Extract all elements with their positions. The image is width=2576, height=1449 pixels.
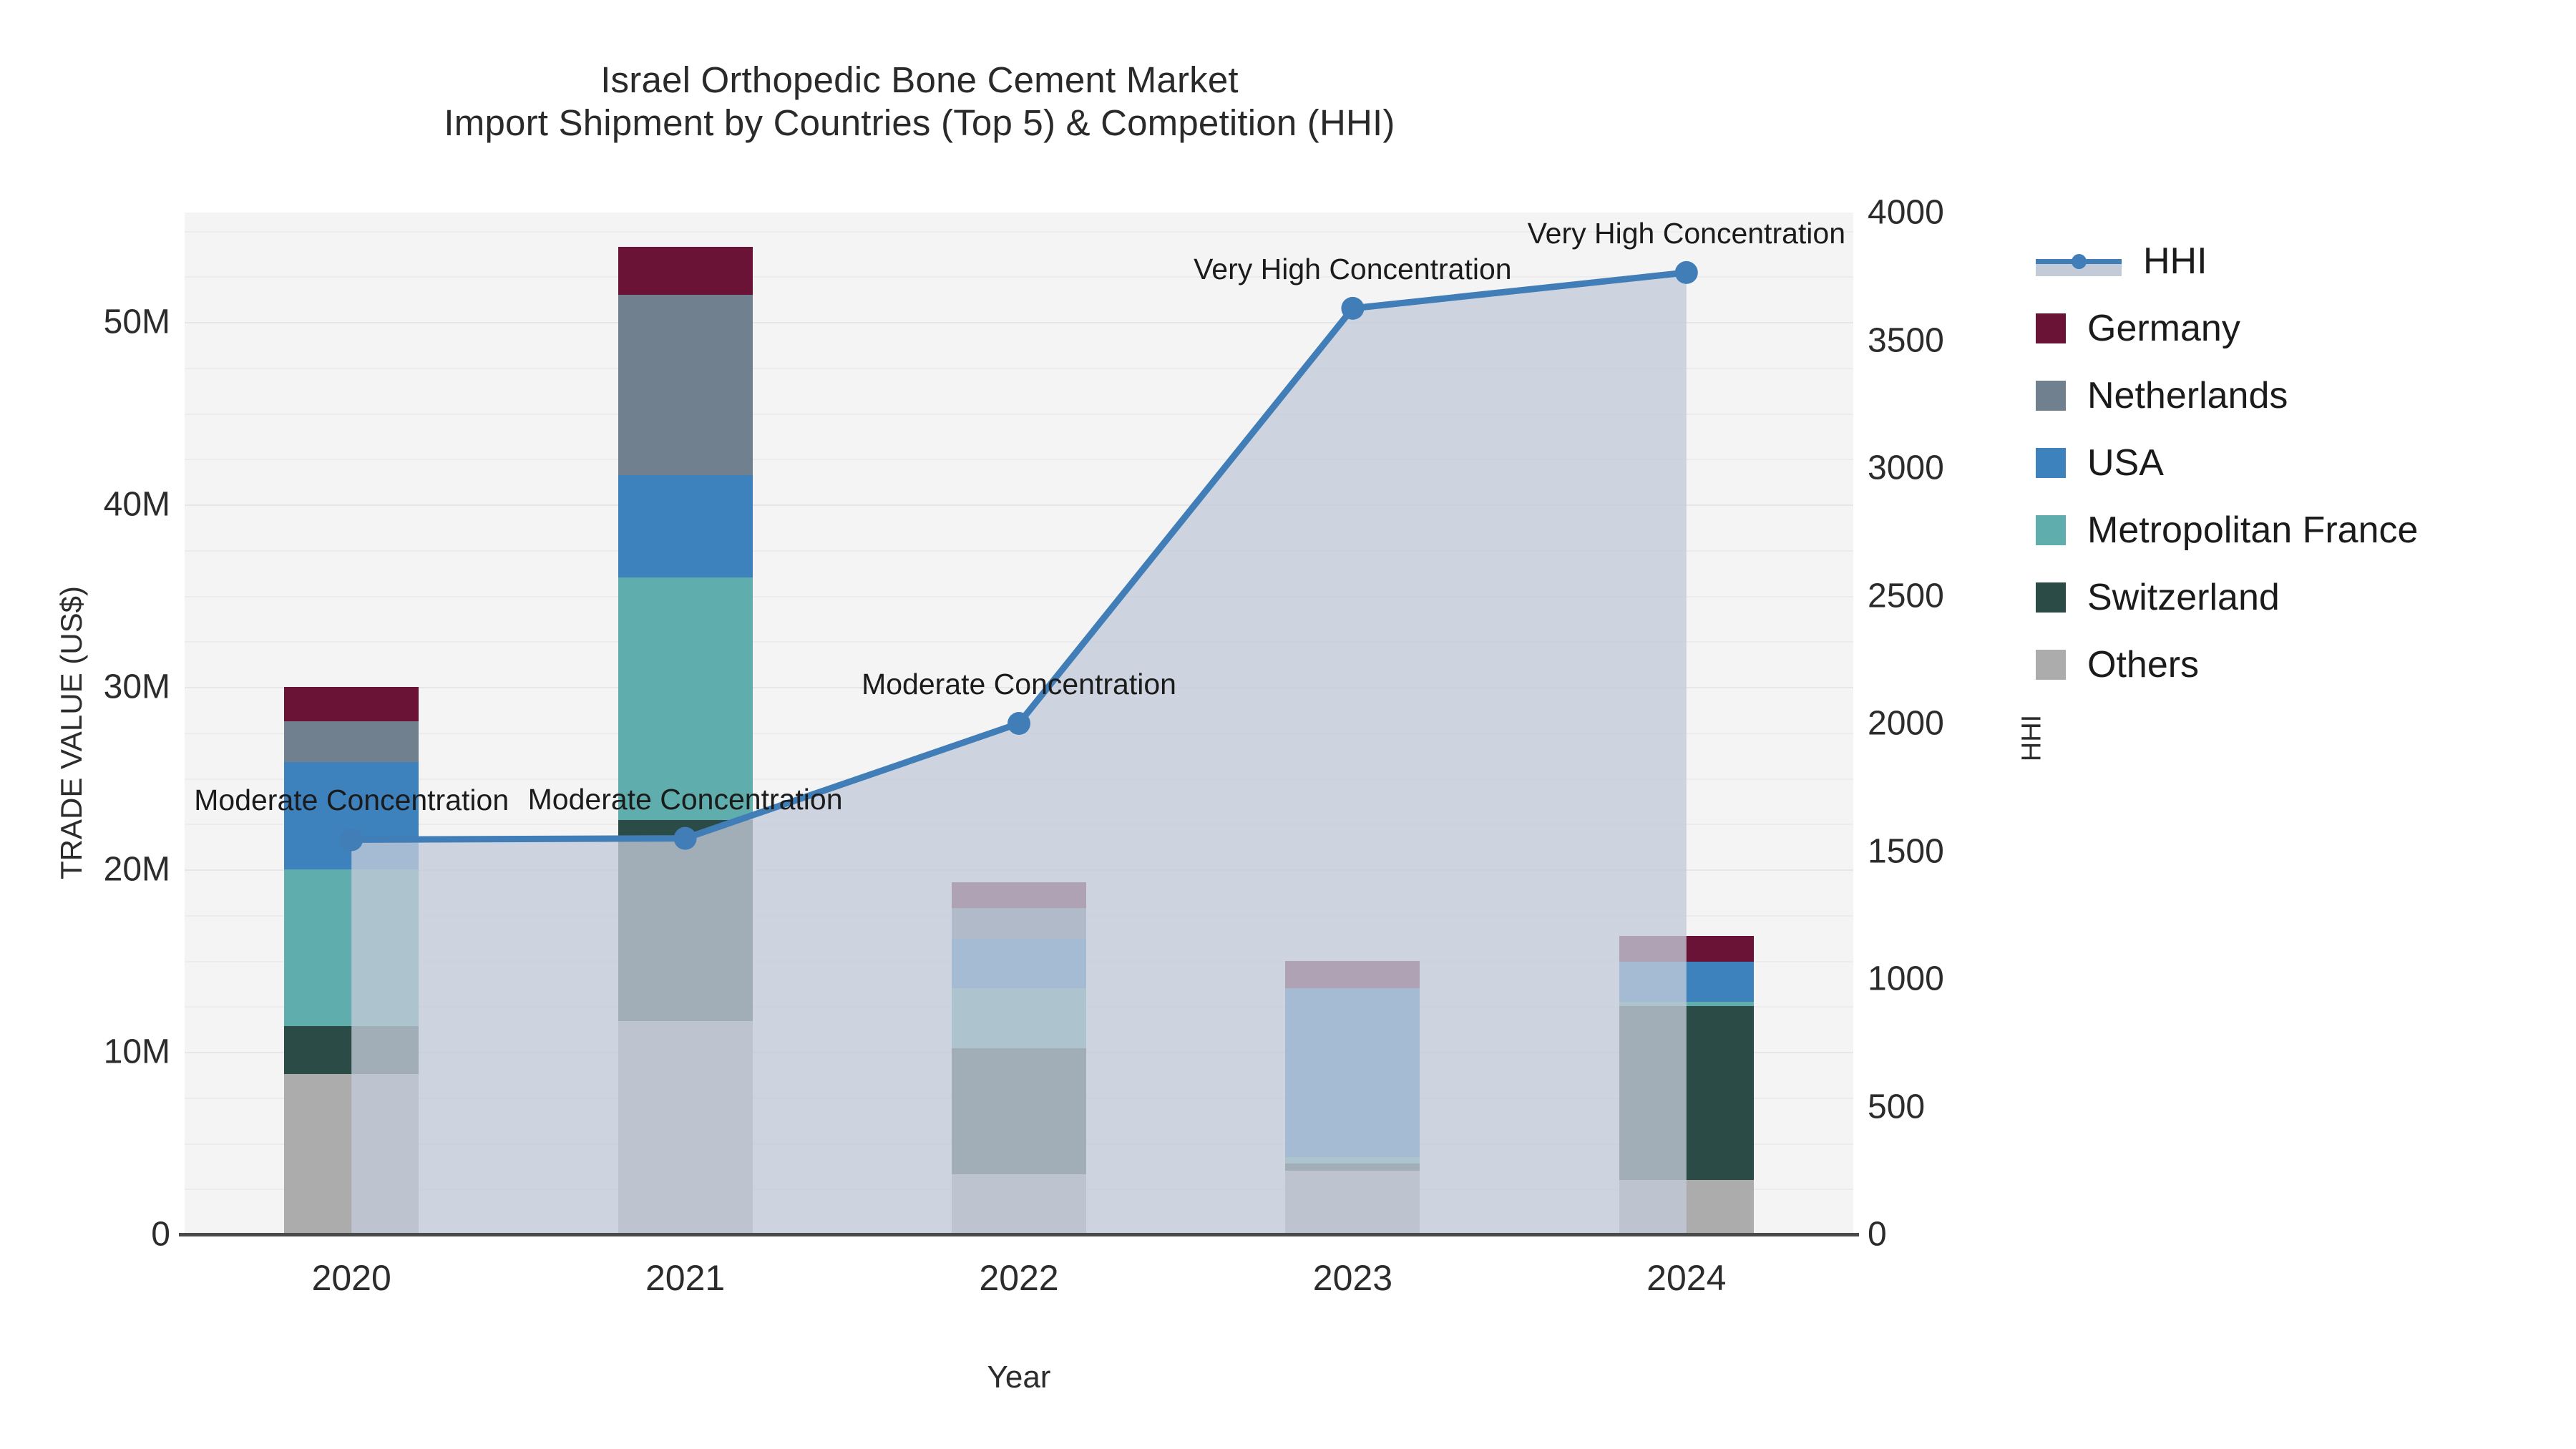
chart-title: Israel Orthopedic Bone Cement Market Imp… xyxy=(0,59,1839,145)
y-axis-right-tick-label: 3500 xyxy=(1868,321,1944,360)
y-axis-right: 05001000150020002500300035004000 xyxy=(1868,0,2082,1449)
y-axis-right-tick-label: 4000 xyxy=(1868,193,1944,233)
legend-line-marker-icon xyxy=(2036,246,2122,276)
annotation-2022: Moderate Concentration xyxy=(862,668,1176,701)
legend-label: HHI xyxy=(2143,240,2207,283)
hhi-data-point-2023[interactable] xyxy=(1341,297,1364,320)
x-axis-tick-label: 2020 xyxy=(312,1257,391,1299)
y-axis-right-tick-label: 1500 xyxy=(1868,831,1944,871)
chart-root: Israel Orthopedic Bone Cement Market Imp… xyxy=(0,0,2576,1449)
y-axis-left-tick-label: 0 xyxy=(0,1215,170,1254)
legend-swatch-icon xyxy=(2036,381,2066,411)
legend-item-switzerland[interactable]: Switzerland xyxy=(2036,564,2418,631)
x-axis-tick-label: 2022 xyxy=(979,1257,1058,1299)
y-axis-right-tick-label: 2500 xyxy=(1868,576,1944,615)
legend-item-usa[interactable]: USA xyxy=(2036,429,2418,497)
legend-label: Germany xyxy=(2087,307,2240,350)
y-axis-left-tick-label: 30M xyxy=(0,668,170,707)
legend-label: Others xyxy=(2087,643,2199,686)
y-axis-right-tick-label: 2000 xyxy=(1868,704,1944,743)
legend-label: Metropolitan France xyxy=(2087,509,2418,552)
legend-swatch-icon xyxy=(2036,650,2066,680)
y-axis-left-tick-label: 40M xyxy=(0,485,170,525)
hhi-line-overlay xyxy=(185,213,1853,1234)
legend-label: Netherlands xyxy=(2087,374,2288,417)
plot-area xyxy=(185,213,1853,1234)
x-axis-tick-label: 2024 xyxy=(1646,1257,1726,1299)
hhi-data-point-2021[interactable] xyxy=(674,827,697,850)
annotation-2023: Very High Concentration xyxy=(1194,253,1511,286)
legend-label: USA xyxy=(2087,441,2164,484)
y-axis-left-tick-label: 50M xyxy=(0,303,170,342)
legend-swatch-icon xyxy=(2036,448,2066,478)
x-axis-tick-label: 2023 xyxy=(1313,1257,1392,1299)
legend-label: Switzerland xyxy=(2087,576,2280,619)
y-axis-right-tick-label: 3000 xyxy=(1868,449,1944,488)
legend-item-others[interactable]: Others xyxy=(2036,631,2418,698)
hhi-area-path xyxy=(351,273,1687,1234)
y-axis-right-tick-label: 500 xyxy=(1868,1087,1925,1126)
x-axis-baseline xyxy=(179,1233,1859,1236)
y-axis-left: TRADE VALUE (US$) 010M20M30M40M50M xyxy=(0,0,172,1449)
y-axis-right-tick-label: 0 xyxy=(1868,1215,1887,1254)
legend-item-germany[interactable]: Germany xyxy=(2036,295,2418,362)
annotation-2024: Very High Concentration xyxy=(1528,217,1845,250)
legend: HHIGermanyNetherlandsUSAMetropolitan Fra… xyxy=(2036,228,2418,698)
legend-swatch-icon xyxy=(2036,515,2066,545)
hhi-data-point-2020[interactable] xyxy=(340,828,363,851)
x-axis-tick-label: 2021 xyxy=(645,1257,725,1299)
annotation-2021: Moderate Concentration xyxy=(528,783,843,816)
chart-title-line-2: Import Shipment by Countries (Top 5) & C… xyxy=(0,102,1839,145)
y-axis-left-tick-label: 10M xyxy=(0,1033,170,1072)
y-axis-left-tick-label: 20M xyxy=(0,850,170,889)
hhi-data-point-2024[interactable] xyxy=(1675,261,1698,284)
legend-item-netherlands[interactable]: Netherlands xyxy=(2036,362,2418,429)
x-axis-title: Year xyxy=(185,1360,1853,1395)
legend-item-hhi[interactable]: HHI xyxy=(2036,228,2418,295)
chart-title-line-1: Israel Orthopedic Bone Cement Market xyxy=(0,59,1839,102)
hhi-data-point-2022[interactable] xyxy=(1008,712,1030,735)
y-axis-right-tick-label: 1000 xyxy=(1868,960,1944,999)
legend-swatch-icon xyxy=(2036,582,2066,613)
legend-swatch-icon xyxy=(2036,313,2066,343)
annotation-2020: Moderate Concentration xyxy=(194,784,509,817)
legend-item-metropolitan-france[interactable]: Metropolitan France xyxy=(2036,497,2418,564)
